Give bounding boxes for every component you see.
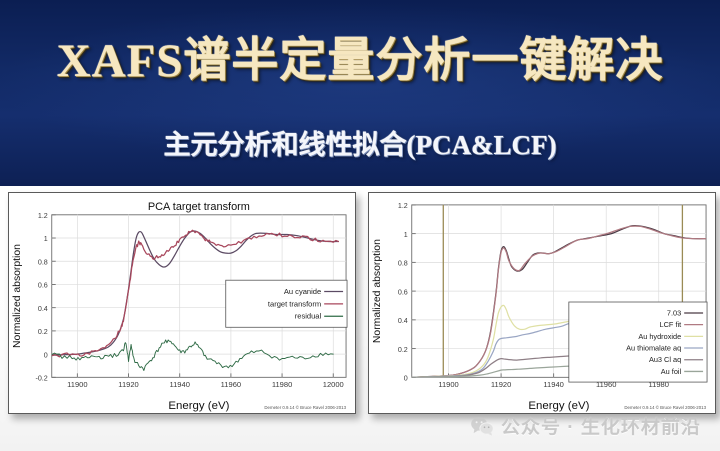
legend-label: Au3 Cl aq [649, 355, 681, 364]
legend-label: target transform [268, 299, 321, 308]
x-tick-label: 11920 [491, 380, 511, 389]
watermark-text: 公众号 · 生化环材前沿 [501, 412, 701, 439]
page-title: XAFS谱半定量分析一键解决 [0, 38, 720, 85]
legend-label: 7.03 [667, 308, 681, 317]
title-banner: XAFS谱半定量分析一键解决 主元分析和线性拟合(PCA&LCF) [0, 0, 720, 186]
y-tick-label: 0.8 [398, 260, 408, 268]
x-tick-label: 11940 [543, 380, 563, 389]
wechat-icon [470, 416, 494, 436]
y-tick-label: 0 [404, 375, 408, 383]
credit-text: Demeter 0.9.14 © Bruce Ravel 2006-2013 [624, 405, 706, 410]
y-tick-label: 0 [44, 351, 48, 359]
x-tick-label: 11940 [169, 380, 189, 389]
y-tick-label: 0.6 [38, 282, 48, 290]
y-tick-label: 0.4 [398, 317, 408, 325]
legend-label: Au hydroxide [638, 332, 681, 341]
page-subtitle: 主元分析和线性拟合(PCA&LCF) [0, 132, 720, 159]
x-tick-label: 12000 [323, 380, 344, 389]
x-tick-label: 11960 [221, 380, 241, 389]
y-tick-label: 1.2 [38, 212, 48, 220]
chart-legend: Au cyanidetarget transformresidual [226, 280, 347, 327]
chart-panel-pca: -0.200.20.40.60.811.21190011920119401196… [8, 192, 356, 414]
chart-legend: 7.03LCF fitAu hydroxideAu thiomalate aqA… [569, 302, 707, 382]
pca-plot: -0.200.20.40.60.811.21190011920119401196… [9, 193, 355, 413]
legend-label: Au foil [661, 367, 682, 376]
x-axis-label: Energy (eV) [528, 400, 589, 412]
y-tick-label: 0.6 [398, 288, 408, 296]
legend-label: residual [295, 312, 322, 321]
lcf-plot: 00.20.40.60.811.211900119201194011960119… [369, 193, 715, 413]
y-tick-label: -0.2 [35, 375, 47, 383]
y-tick-label: 0.8 [38, 258, 48, 266]
y-axis-label: Normalized absorption [372, 239, 383, 343]
legend-label: Au thiomalate aq [626, 343, 681, 352]
y-axis-label: Normalized absorption [12, 244, 23, 348]
slide-root: XAFS谱半定量分析一键解决 主元分析和线性拟合(PCA&LCF) -0.200… [0, 0, 720, 451]
legend-label: Au cyanide [284, 287, 321, 296]
chart-panel-lcf: 00.20.40.60.811.211900119201194011960119… [368, 192, 716, 414]
x-tick-label: 11900 [67, 380, 87, 389]
y-tick-label: 0.2 [38, 328, 48, 336]
x-tick-label: 11920 [118, 380, 138, 389]
legend-label: LCF fit [660, 320, 682, 329]
y-tick-label: 1 [44, 235, 48, 243]
credit-text: Demeter 0.9.14 © Bruce Ravel 2006-2013 [264, 405, 346, 410]
x-axis-label: Energy (eV) [168, 400, 229, 412]
x-tick-label: 11980 [272, 380, 292, 389]
watermark: 公众号 · 生化环材前沿 [470, 412, 701, 439]
y-tick-label: 0.2 [398, 346, 408, 354]
y-tick-label: 1 [404, 231, 408, 239]
y-tick-label: 1.2 [398, 202, 408, 210]
x-tick-label: 11900 [438, 380, 458, 389]
chart-title: PCA target transform [148, 201, 250, 213]
y-tick-label: 0.4 [38, 305, 48, 313]
